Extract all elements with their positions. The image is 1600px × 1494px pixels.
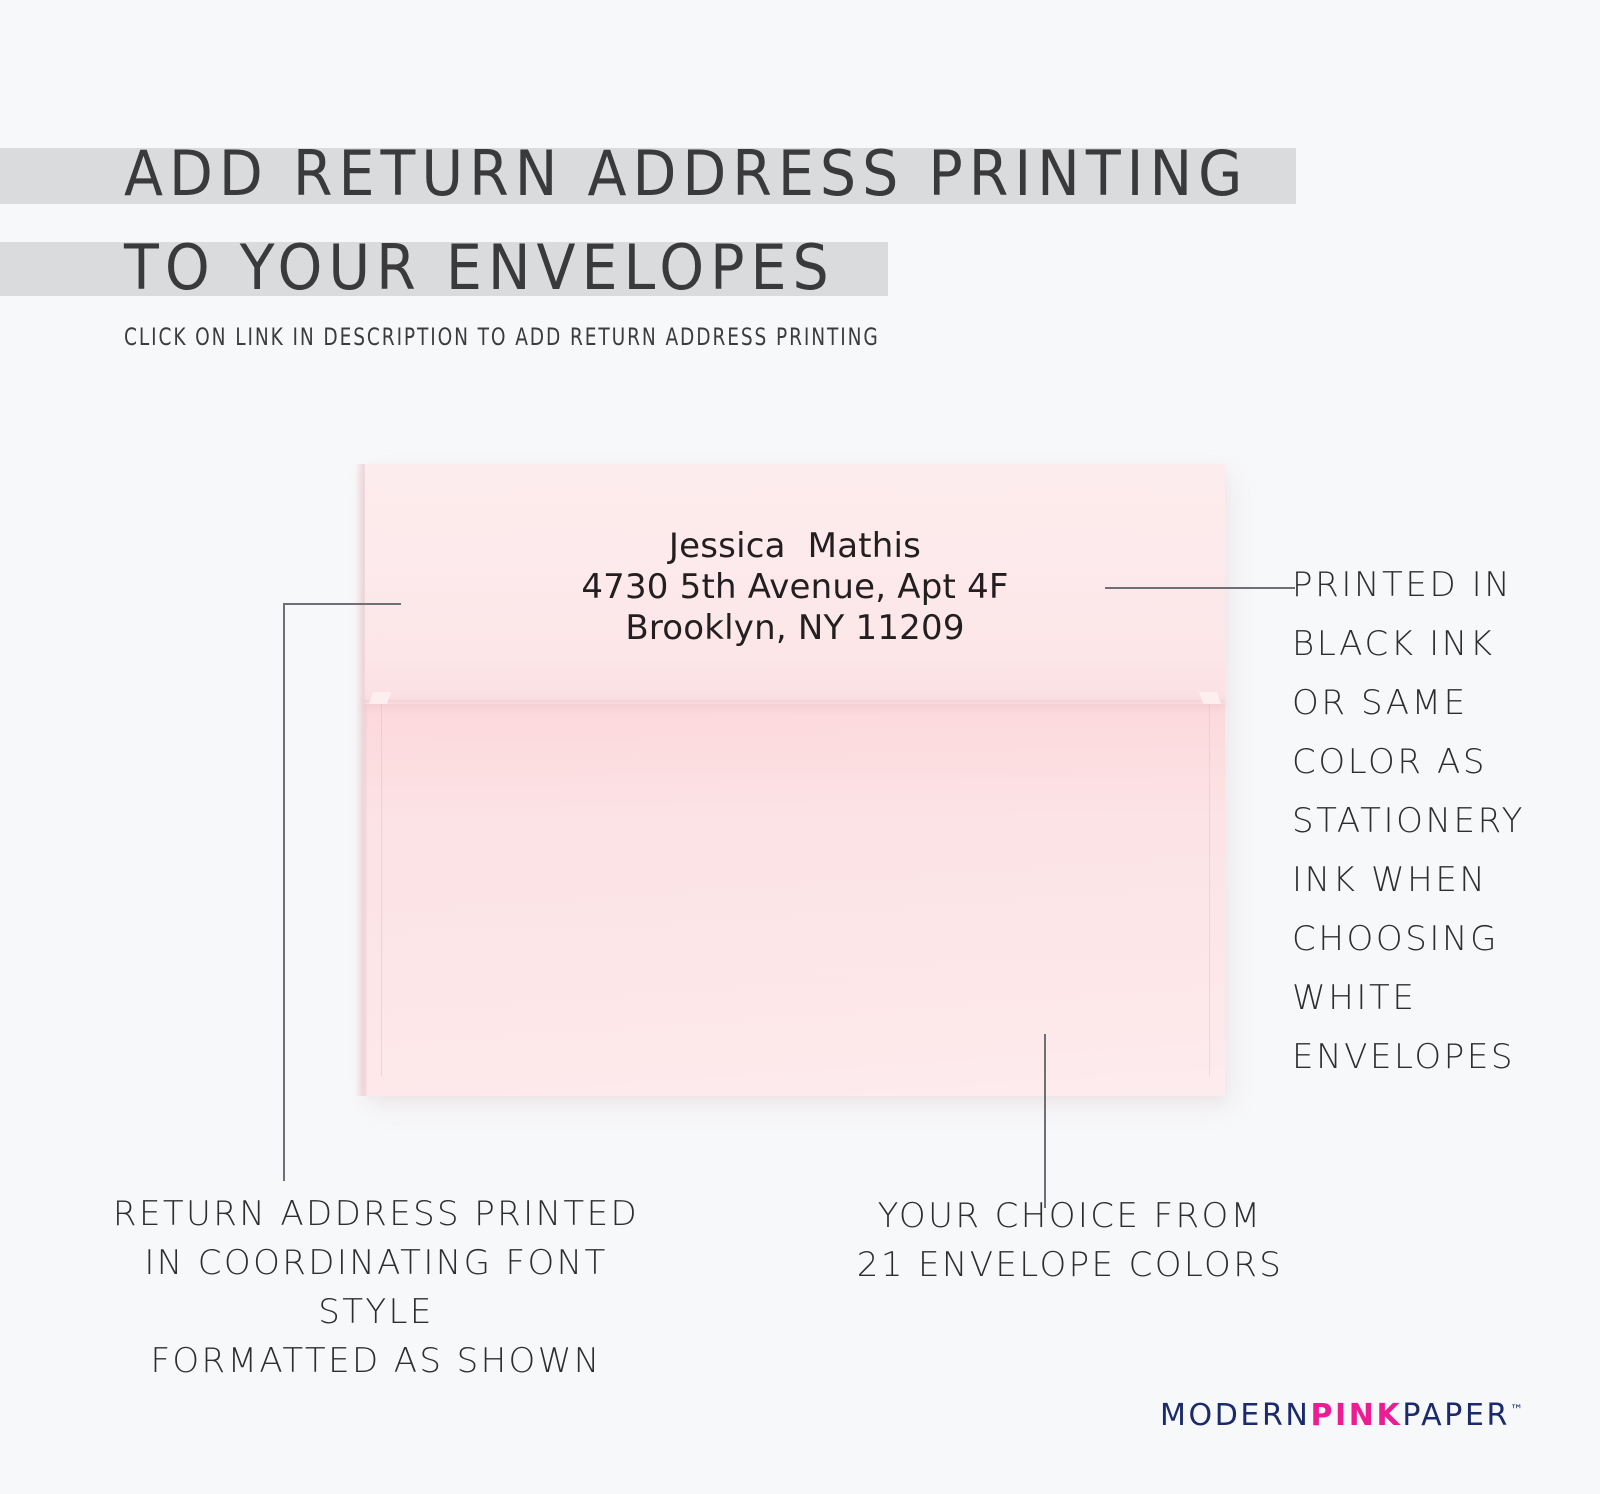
envelope-flap-notch-right [1199,692,1221,704]
leader-line-left-horizontal [283,603,401,605]
annotation-printed-ink: PRINTED IN BLACK INK OR SAME COLOR AS ST… [1292,556,1592,1087]
page-title-line-1: ADD RETURN ADDRESS PRINTING [124,143,1248,205]
page-subtitle: CLICK ON LINK IN DESCRIPTION TO ADD RETU… [124,323,880,351]
leader-line-right-horizontal [1105,587,1295,589]
annotation-font-style: RETURN ADDRESS PRINTED IN COORDINATING F… [96,1190,656,1386]
annotation-envelope-colors: YOUR CHOICE FROM 21 ENVELOPE COLORS [855,1192,1285,1290]
page-title-line-2: TO YOUR ENVELOPES [124,237,835,299]
logo-text-modern: MODERN [1160,1398,1310,1433]
envelope-seam-left [381,704,382,1076]
brand-logo: MODERNPINKPAPER™ [1160,1398,1523,1433]
envelope-mockup: Jessica Mathis 4730 5th Avenue, Apt 4F B… [365,464,1225,1096]
logo-text-paper: PAPER [1402,1398,1510,1433]
envelope-flap-edge [365,700,1225,704]
envelope-seam-right [1209,704,1210,1076]
return-address-text: Jessica Mathis 4730 5th Avenue, Apt 4F B… [365,526,1225,649]
leader-line-middle-vertical [1044,1034,1046,1208]
logo-text-pink: PINK [1310,1398,1402,1433]
trademark-symbol: ™ [1510,1403,1523,1418]
leader-line-left-vertical [283,603,285,1181]
